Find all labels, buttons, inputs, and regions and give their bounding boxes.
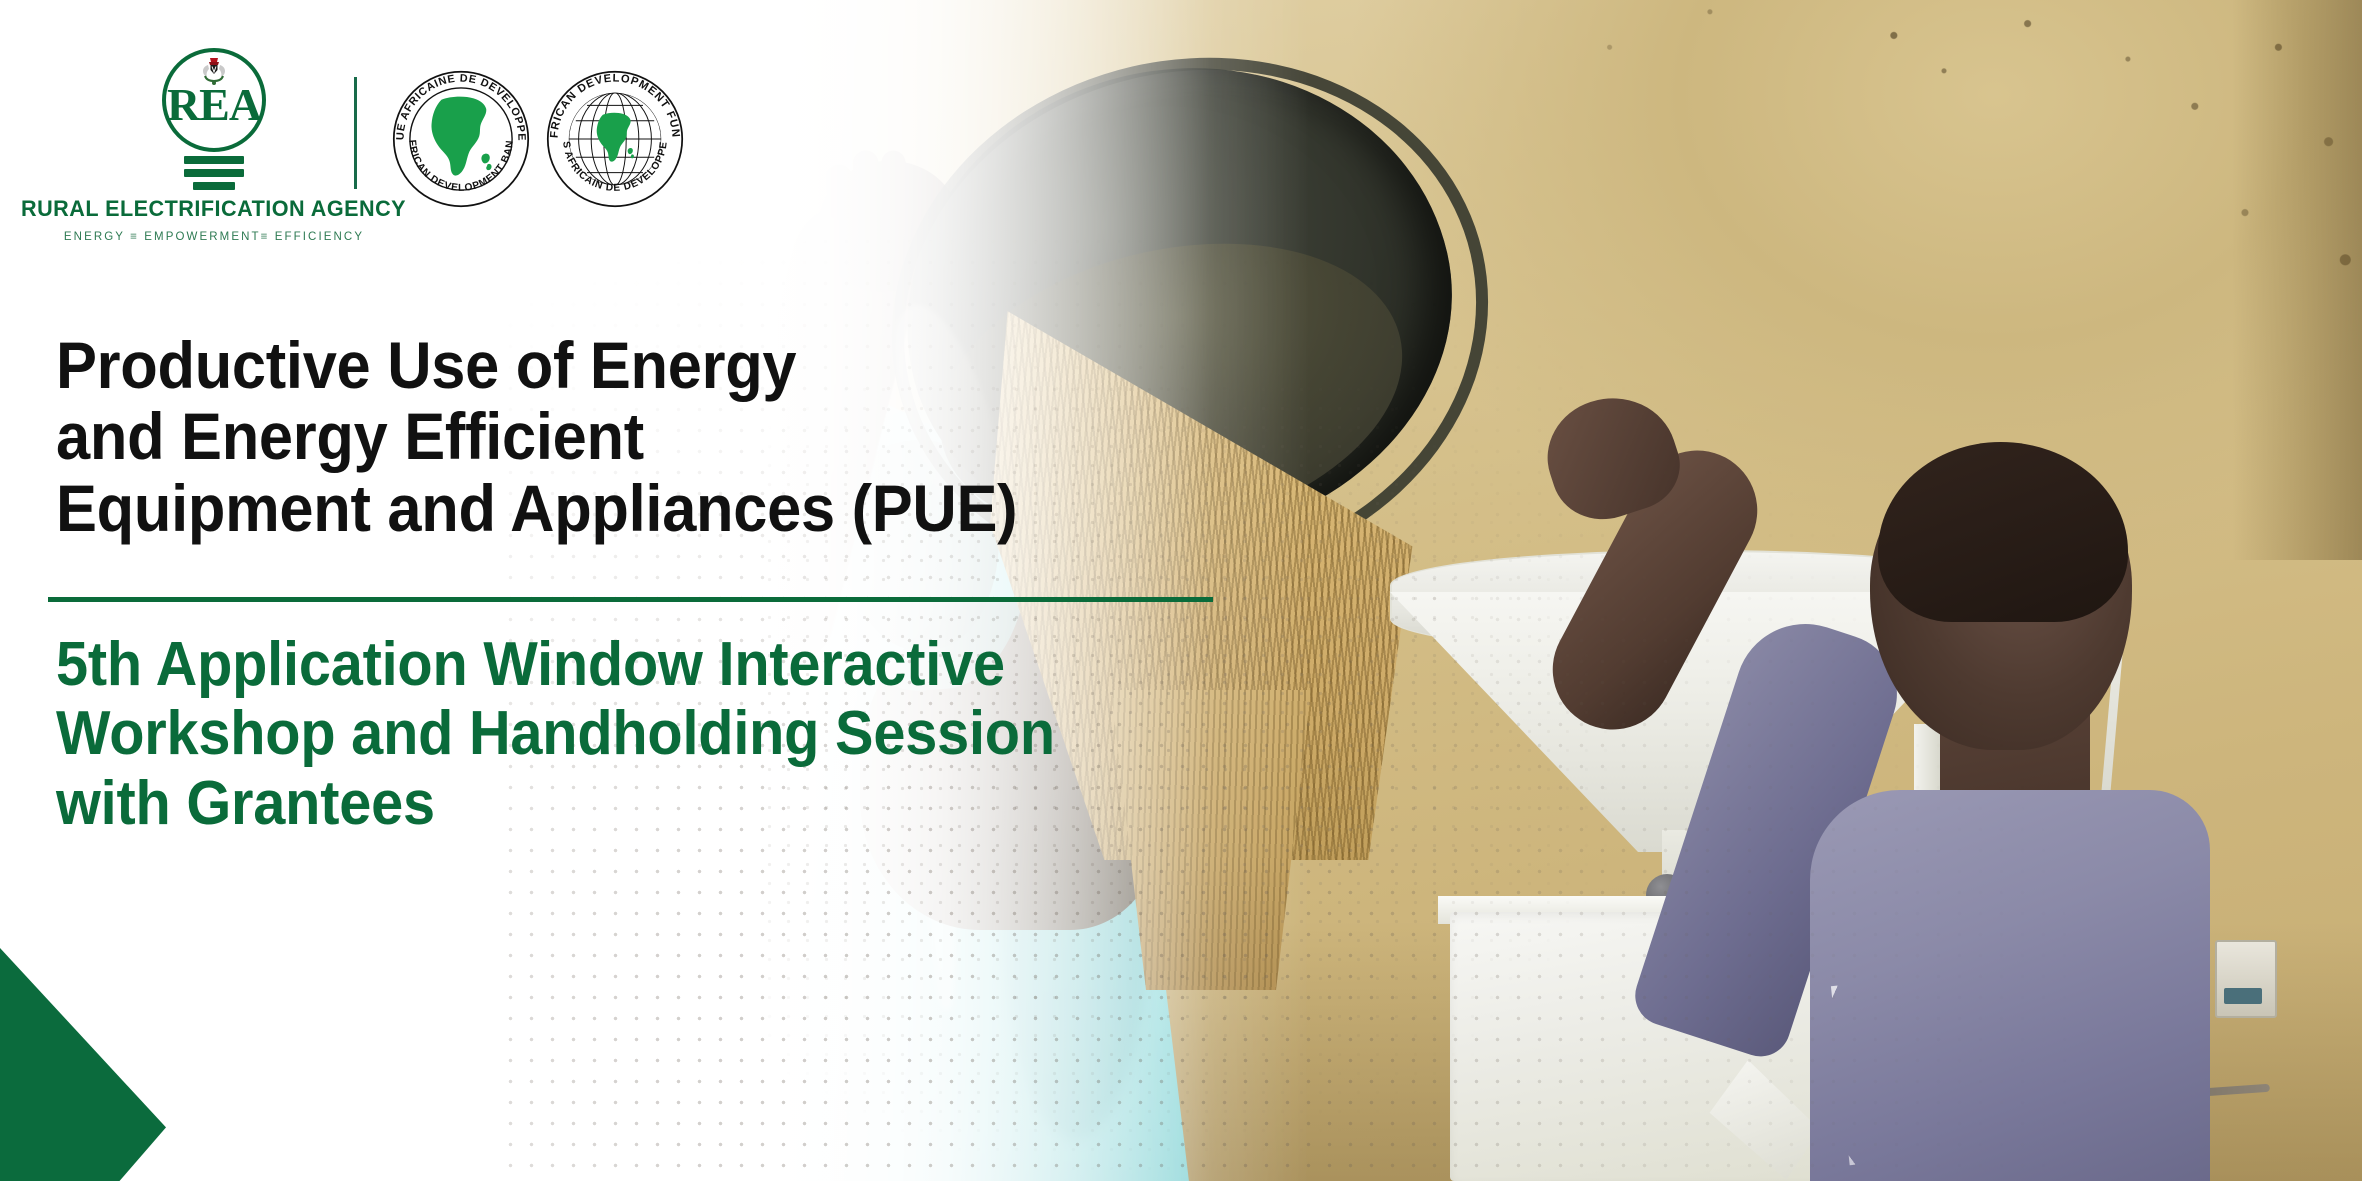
subheadline-line-3: with Grantees — [56, 769, 1312, 838]
logo-bar: REA RURAL ELECTRIFICATION AGENCY ENERGY … — [100, 48, 685, 243]
african-development-fund-logo: AFRICAN DEVELOPMENT FUND FONDS AFRICAIN … — [545, 69, 685, 209]
subheadline-line-2: Workshop and Handholding Session — [56, 699, 1312, 768]
rea-tagline: ENERGY ≡ EMPOWERMENT≡ EFFICIENCY — [64, 231, 364, 243]
wall-socket-face — [2224, 988, 2262, 1004]
headline-divider-rule — [48, 597, 1213, 602]
subheadline-line-1: 5th Application Window Interactive — [56, 630, 1312, 699]
lightbulb-base-icon — [139, 156, 289, 190]
hero-photograph — [690, 0, 2362, 1181]
headline-line-1: Productive Use of Energy — [56, 330, 1219, 401]
rea-logo: REA RURAL ELECTRIFICATION AGENCY ENERGY … — [100, 48, 328, 243]
headline-line-3: Equipment and Appliances (PUE) — [56, 473, 1219, 544]
africa-map-icon — [431, 96, 491, 175]
africa-map-icon — [597, 112, 634, 161]
rea-monogram: REA — [139, 82, 289, 128]
pue-workshop-banner: REA RURAL ELECTRIFICATION AGENCY ENERGY … — [0, 0, 2362, 1181]
event-headline: Productive Use of Energy and Energy Effi… — [56, 330, 1219, 544]
african-development-bank-logo: BANQUE AFRICAINE DE DEVELOPPEMENT AFRICA… — [391, 69, 531, 209]
headline-line-2: and Energy Efficient — [56, 401, 1219, 472]
man-shirt-print — [1831, 975, 1959, 1166]
event-subheadline: 5th Application Window Interactive Works… — [56, 630, 1312, 838]
wall-shadow-right — [2232, 0, 2362, 560]
rea-logo-mark: REA — [139, 48, 289, 182]
wall-socket — [2215, 940, 2277, 1018]
rea-agency-name: RURAL ELECTRIFICATION AGENCY — [21, 196, 406, 222]
afdb-logo-group: BANQUE AFRICAINE DE DEVELOPPEMENT AFRICA… — [391, 69, 685, 209]
logo-divider — [354, 77, 357, 189]
